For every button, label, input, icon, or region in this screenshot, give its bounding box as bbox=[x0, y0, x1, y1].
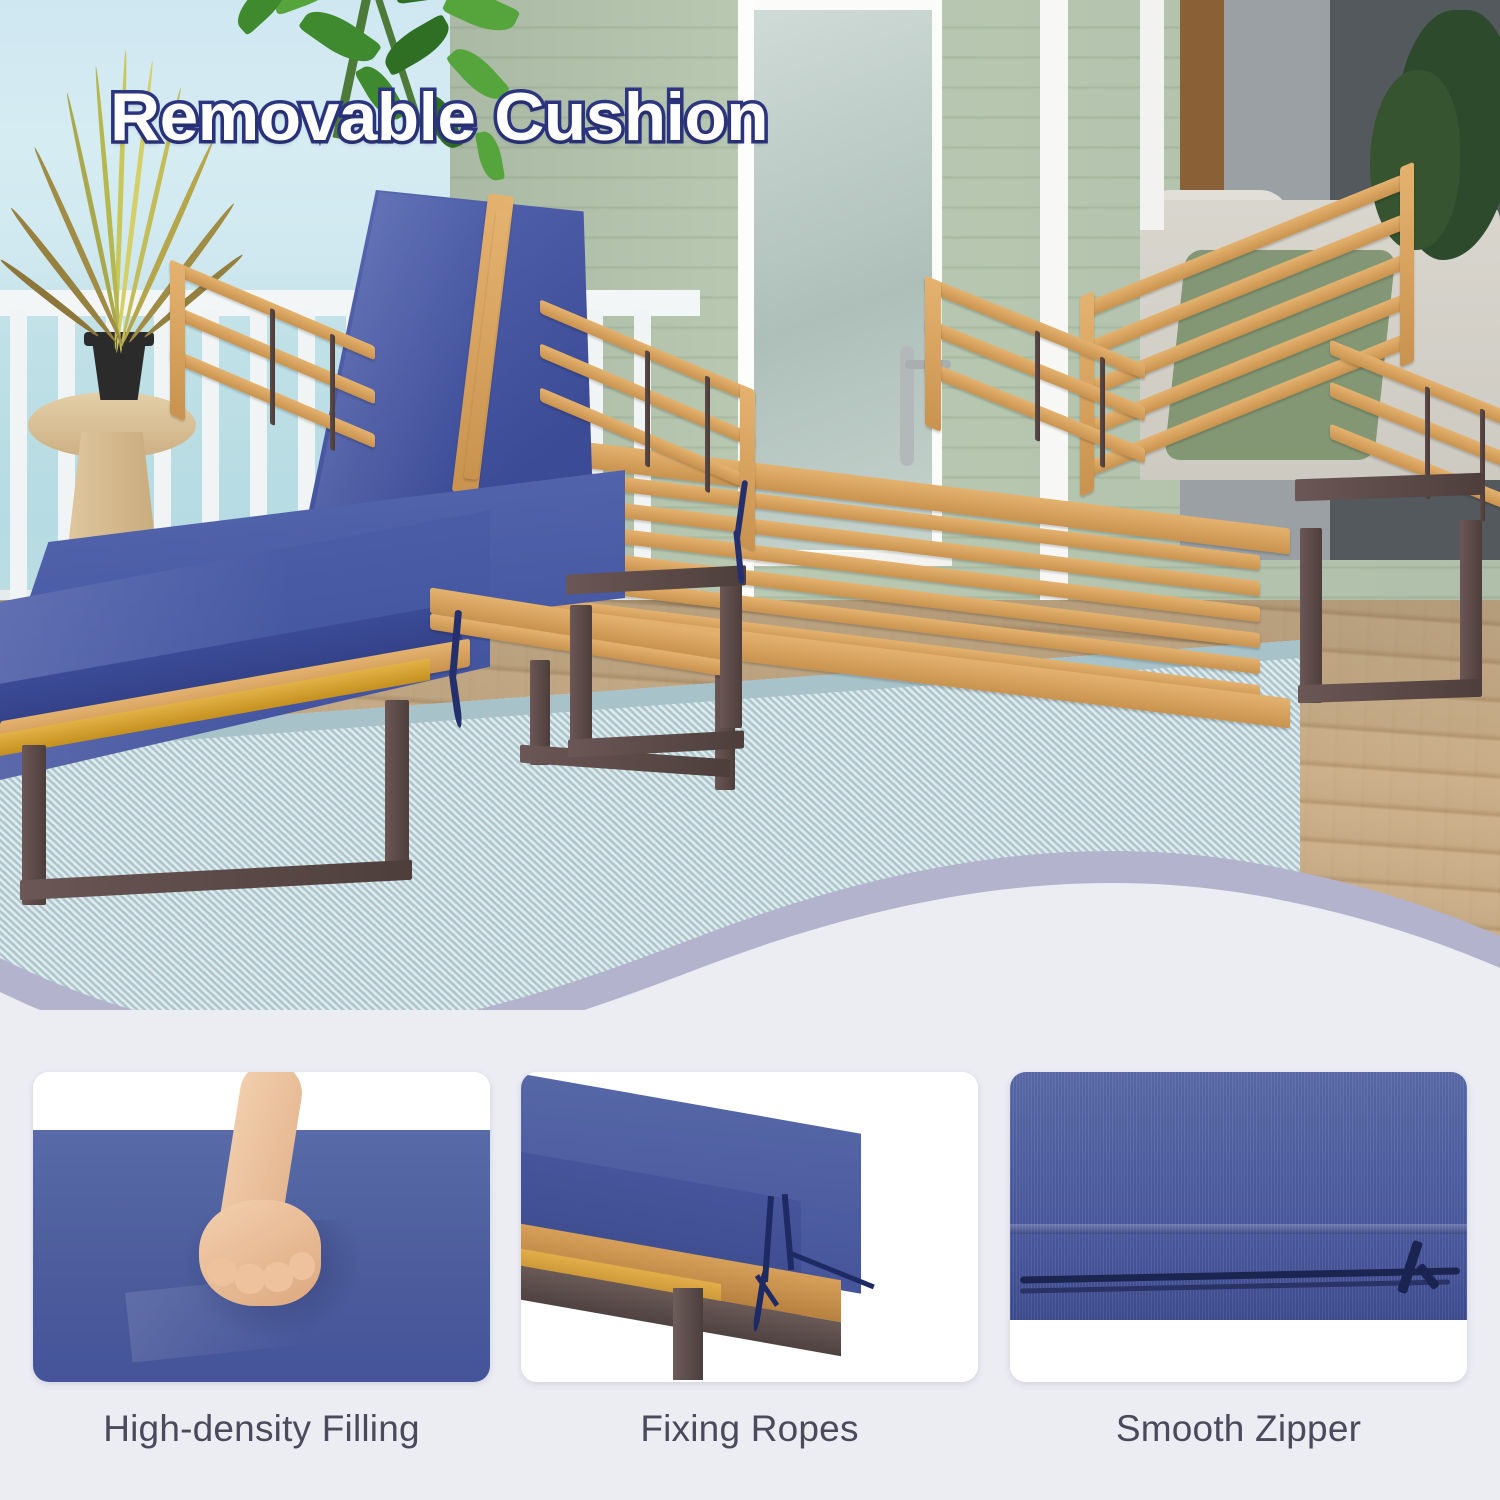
feature-panel: High-density Filling Fixing Ropes Smooth… bbox=[0, 1010, 1500, 1500]
feature-caption-row: High-density Filling Fixing Ropes Smooth… bbox=[0, 1408, 1500, 1478]
feature-card-smooth-zipper[interactable] bbox=[1010, 1072, 1467, 1382]
fixing-rope-front-loop bbox=[448, 666, 464, 728]
card3-fabric-seam bbox=[1010, 1224, 1467, 1234]
caption-smooth-zipper: Smooth Zipper bbox=[1010, 1408, 1467, 1450]
caption-high-density-filling: High-density Filling bbox=[33, 1408, 490, 1450]
card3-background-bottom bbox=[1010, 1320, 1467, 1382]
feature-card-row bbox=[0, 1072, 1500, 1382]
feature-card-high-density-filling[interactable] bbox=[33, 1072, 490, 1382]
card2-metal-leg bbox=[673, 1288, 703, 1380]
card1-fist-icon bbox=[199, 1200, 321, 1306]
page-title: Removable Cushion bbox=[110, 78, 768, 156]
door-post-secondary bbox=[1140, 0, 1164, 230]
chaise-lounger-cushioned bbox=[0, 180, 900, 880]
product-feature-poster: Removable Cushion bbox=[0, 0, 1500, 1500]
caption-fixing-ropes: Fixing Ropes bbox=[521, 1408, 978, 1450]
feature-card-fixing-ropes[interactable] bbox=[521, 1072, 978, 1382]
